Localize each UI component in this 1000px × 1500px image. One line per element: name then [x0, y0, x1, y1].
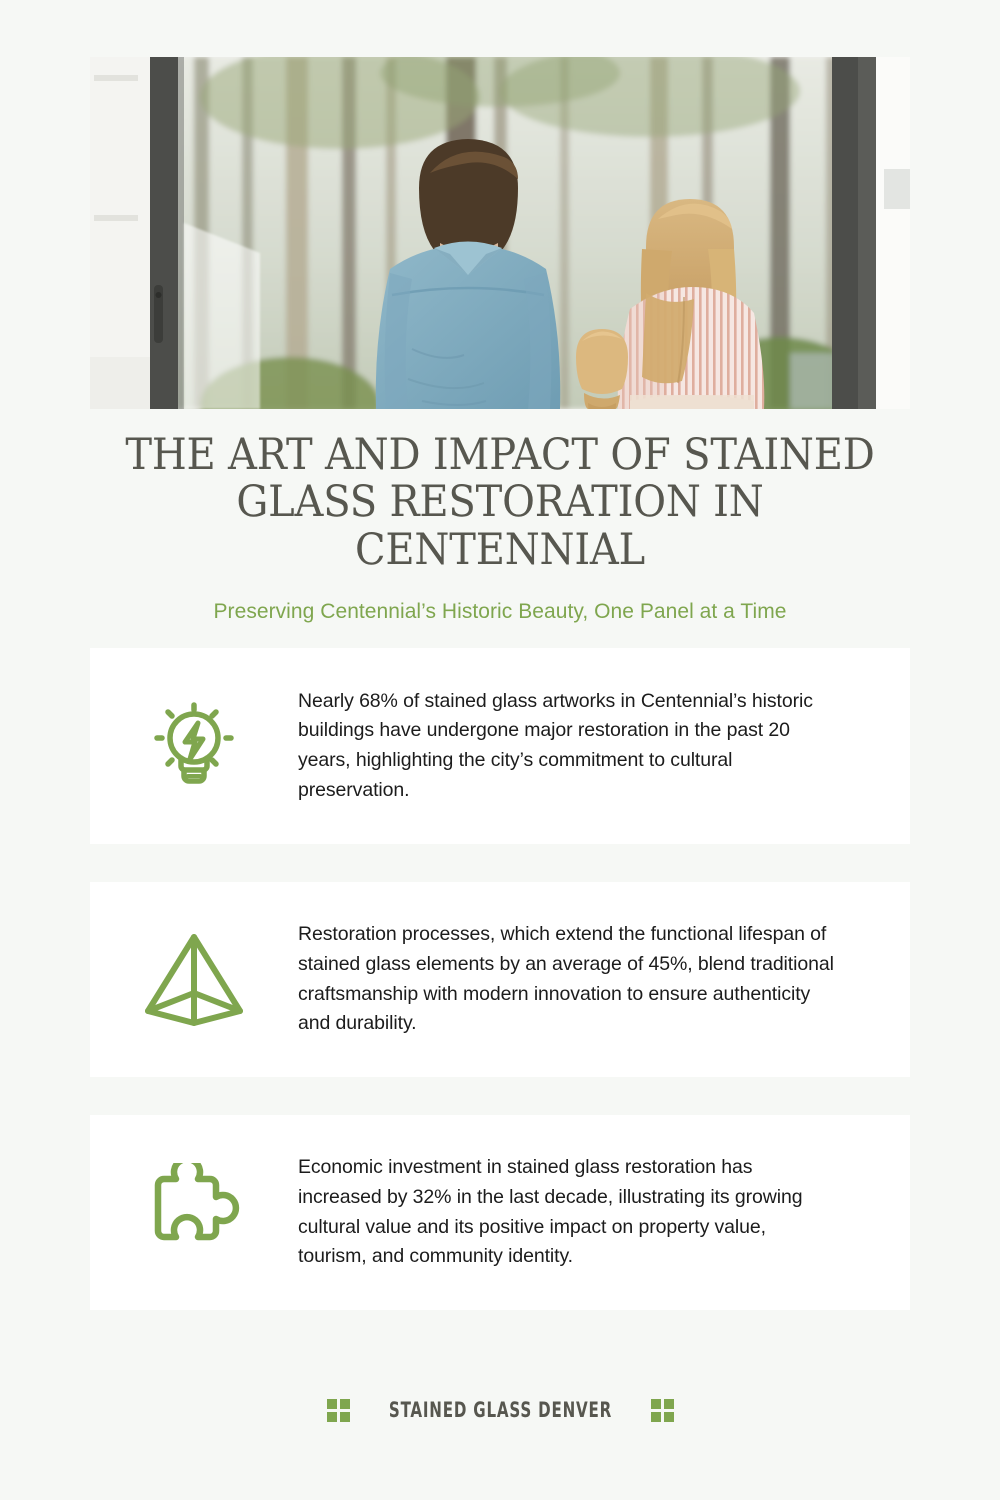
pyramid-wireframe-icon: [90, 931, 298, 1029]
hero-photo: [90, 57, 910, 409]
page-subtitle: Preserving Centennial’s Historic Beauty,…: [90, 600, 910, 624]
footer-logo: STAINED GLASS DENVER: [0, 1398, 1000, 1422]
title-block: THE ART AND IMPACT OF STAINED GLASS REST…: [90, 432, 910, 624]
fact-card-text: Restoration processes, which extend the …: [298, 920, 910, 1039]
page-title: THE ART AND IMPACT OF STAINED GLASS REST…: [119, 432, 882, 574]
fact-card-text: Economic investment in stained glass res…: [298, 1153, 910, 1272]
fact-card-text: Nearly 68% of stained glass artworks in …: [298, 687, 910, 806]
brand-name: STAINED GLASS DENVER: [388, 1398, 611, 1422]
fact-card: Economic investment in stained glass res…: [90, 1115, 910, 1310]
fact-card-list: Nearly 68% of stained glass artworks in …: [90, 648, 910, 1310]
fact-card: Nearly 68% of stained glass artworks in …: [90, 648, 910, 844]
fact-card: Restoration processes, which extend the …: [90, 882, 910, 1077]
logo-squares-left-icon: [327, 1399, 350, 1422]
lightbulb-bolt-icon: [90, 698, 298, 794]
logo-squares-right-icon: [651, 1399, 674, 1422]
puzzle-piece-icon: [90, 1163, 298, 1263]
